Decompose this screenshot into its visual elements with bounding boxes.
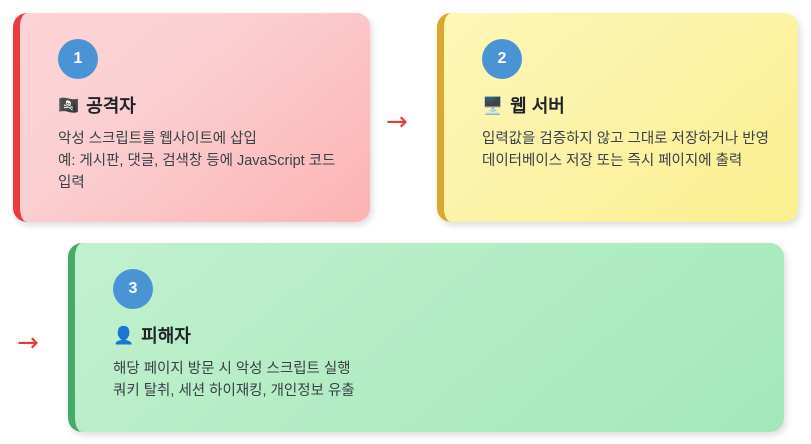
step-badge-1: 1 bbox=[58, 39, 98, 79]
arrow-right-icon-server-to-victim: → bbox=[17, 330, 39, 356]
card-heading-web-server: 🖥️ 웹 서버 bbox=[482, 96, 778, 118]
card-title-web-server: 웹 서버 bbox=[510, 96, 565, 118]
card-heading-victim: 👤 피해자 bbox=[113, 326, 764, 348]
bust-in-silhouette-icon: 👤 bbox=[113, 328, 134, 345]
step-badge-2: 2 bbox=[482, 39, 522, 79]
card-body-victim: 해당 페이지 방문 시 악성 스크립트 실행 쿼키 탈취, 세션 하이재킹, 개… bbox=[113, 358, 753, 402]
card-title-victim: 피해자 bbox=[141, 326, 191, 348]
card-body-attacker: 악성 스크립트를 웹사이트에 삽입 예: 게시판, 댓글, 검색창 등에 Jav… bbox=[58, 128, 350, 195]
step-badge-3: 3 bbox=[113, 269, 153, 309]
flow-card-web-server: 2 🖥️ 웹 서버 입력값을 검증하지 않고 그대로 저장하거나 반영 데이터베… bbox=[437, 13, 798, 222]
card-heading-attacker: 🏴‍☠️ 공격자 bbox=[58, 96, 350, 118]
attack-flow-diagram: 1 🏴‍☠️ 공격자 악성 스크립트를 웹사이트에 삽입 예: 게시판, 댓글,… bbox=[0, 0, 811, 444]
step-badge-number: 1 bbox=[74, 51, 83, 67]
card-body-web-server: 입력값을 검증하지 않고 그대로 저장하거나 반영 데이터베이스 저장 또는 즉… bbox=[482, 128, 778, 172]
flow-card-victim: 3 👤 피해자 해당 페이지 방문 시 악성 스크립트 실행 쿼키 탈취, 세션… bbox=[68, 243, 784, 432]
desktop-computer-icon: 🖥️ bbox=[482, 98, 503, 115]
pirate-flag-icon: 🏴‍☠️ bbox=[58, 98, 79, 115]
flow-card-attacker: 1 🏴‍☠️ 공격자 악성 스크립트를 웹사이트에 삽입 예: 게시판, 댓글,… bbox=[13, 13, 370, 222]
arrow-right-icon-attacker-to-server: → bbox=[386, 109, 408, 135]
step-badge-number: 3 bbox=[129, 281, 138, 297]
card-title-attacker: 공격자 bbox=[86, 96, 136, 118]
step-badge-number: 2 bbox=[498, 51, 507, 67]
